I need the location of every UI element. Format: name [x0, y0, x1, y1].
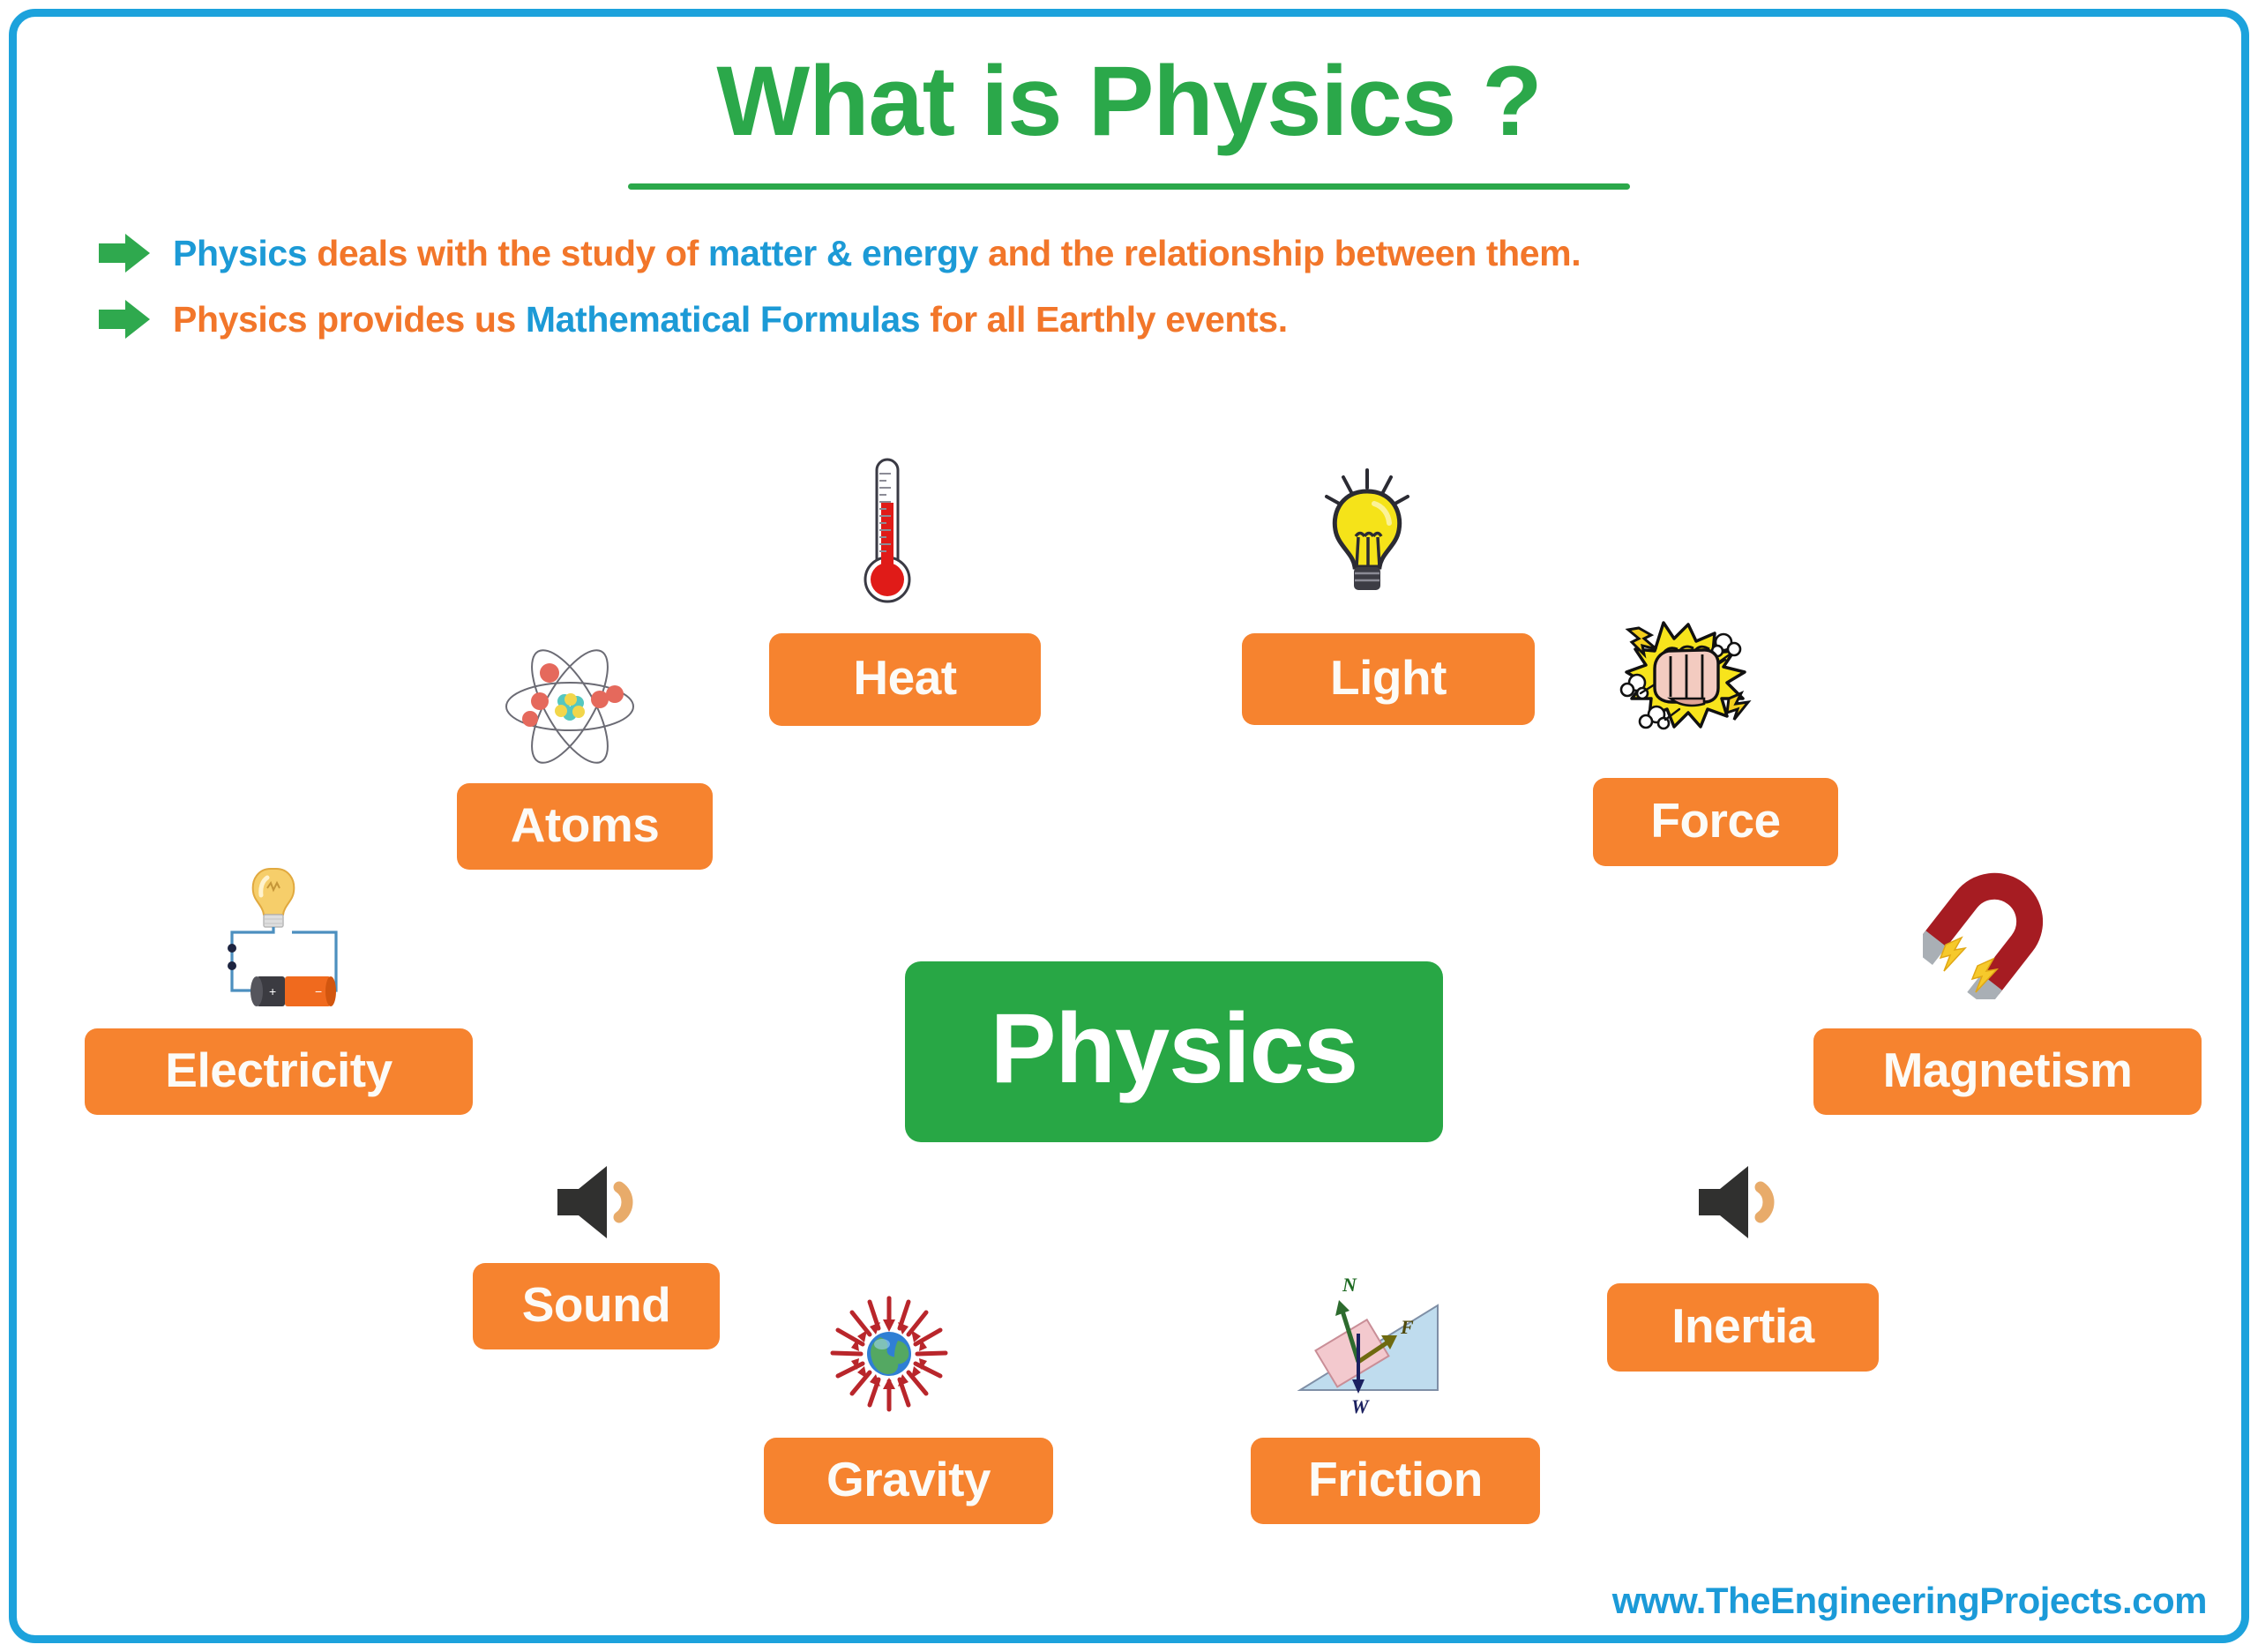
bullet-row-2: Physics provides us Mathematical Formula…: [97, 297, 1288, 341]
svg-text:−: −: [315, 984, 322, 998]
atom-icon: [501, 648, 639, 765]
friction-weight-label: W: [1351, 1395, 1370, 1417]
node-label-electricity: Electricity: [165, 1046, 392, 1098]
fist-punch-icon: [1612, 617, 1761, 743]
node-pill-sound[interactable]: Sound: [473, 1263, 720, 1349]
speaker-icon: [1693, 1162, 1789, 1242]
center-node-physics[interactable]: Physics: [905, 961, 1443, 1142]
center-node-label: Physics: [991, 999, 1357, 1105]
node-label-force: Force: [1650, 796, 1780, 848]
node-pill-gravity[interactable]: Gravity: [764, 1438, 1053, 1524]
bullet-1-seg-1: Physics: [173, 233, 317, 273]
node-label-sound: Sound: [522, 1281, 671, 1333]
friction-normal-label: N: [1342, 1274, 1357, 1296]
page-title: What is Physics ?: [711, 49, 1546, 155]
svg-text:+: +: [269, 984, 276, 998]
horseshoe-magnet-icon: [1923, 869, 2046, 999]
bullet-text-1: Physics deals with the study of matter &…: [173, 233, 1581, 274]
bullet-2-seg-1: Physics provides us: [173, 299, 526, 340]
bullet-1-seg-2: deals with the study of: [317, 233, 708, 273]
node-pill-friction[interactable]: Friction: [1251, 1438, 1540, 1524]
circuit-battery-bulb-icon: + −: [207, 851, 357, 1008]
infographic-poster: What is Physics ? Physics deals with the…: [0, 0, 2258, 1652]
bullet-row-1: Physics deals with the study of matter &…: [97, 231, 1581, 275]
node-label-gravity: Gravity: [826, 1455, 991, 1507]
node-label-magnetism: Magnetism: [1883, 1046, 2133, 1098]
node-pill-force[interactable]: Force: [1593, 778, 1838, 866]
bullet-text-2: Physics provides us Mathematical Formula…: [173, 299, 1288, 340]
friction-force-label: F: [1400, 1316, 1414, 1338]
node-label-light: Light: [1330, 654, 1447, 706]
node-pill-atoms[interactable]: Atoms: [457, 783, 713, 870]
node-label-friction: Friction: [1308, 1455, 1483, 1507]
page-title-wrap: What is Physics ?: [0, 49, 2258, 155]
node-label-atoms: Atoms: [511, 801, 660, 853]
bullet-1-seg-3: matter & energy: [708, 233, 988, 273]
lightbulb-icon: [1314, 465, 1420, 606]
node-pill-electricity[interactable]: Electricity: [85, 1028, 473, 1115]
node-pill-inertia[interactable]: Inertia: [1607, 1283, 1879, 1372]
node-pill-heat[interactable]: Heat: [769, 633, 1041, 726]
node-pill-magnetism[interactable]: Magnetism: [1813, 1028, 2202, 1115]
inclined-plane-forces-icon: N F W: [1281, 1268, 1457, 1417]
node-pill-light[interactable]: Light: [1242, 633, 1535, 725]
speaker-icon: [552, 1162, 647, 1242]
node-label-heat: Heat: [853, 654, 956, 706]
bullet-2-seg-2: Mathematical Formulas: [526, 299, 930, 340]
thermometer-icon: [852, 454, 923, 609]
earth-gravity-arrows-icon: [827, 1293, 951, 1415]
green-arrow-icon: [97, 231, 152, 275]
bullet-2-seg-3: for all Earthly events.: [930, 299, 1288, 340]
green-arrow-icon: [97, 297, 152, 341]
node-label-inertia: Inertia: [1671, 1302, 1814, 1354]
title-underline: [628, 183, 1630, 190]
footer-website[interactable]: www.TheEngineeringProjects.com: [1612, 1580, 2207, 1622]
bullet-1-seg-4: and the relationship between them.: [988, 233, 1581, 273]
